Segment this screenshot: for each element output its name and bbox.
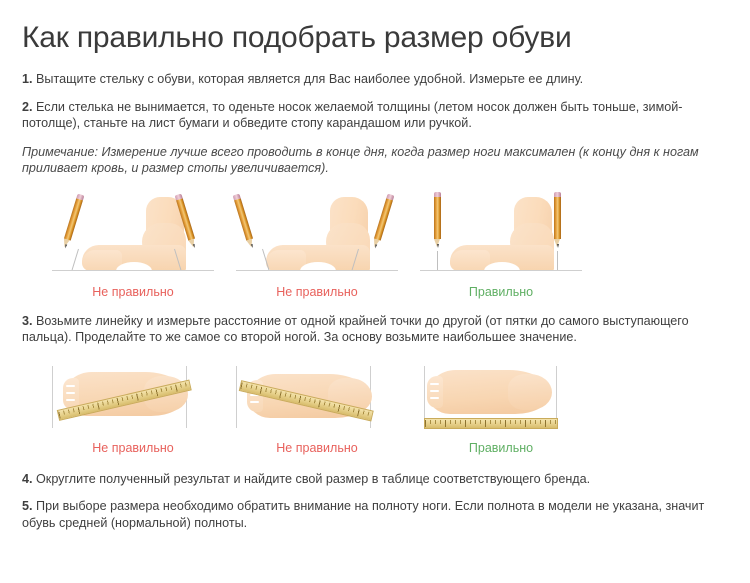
pencil-tracing-illustrations: Не правильно Не правильно (22, 192, 728, 300)
guide-line (72, 248, 79, 269)
ground-line (52, 270, 214, 271)
step-3-text: Возьмите линейку и измерьте расстояние о… (22, 314, 689, 345)
caption-status: Не правильно (230, 441, 404, 456)
foot-top-icon (428, 370, 550, 414)
illustration-foot-top-ruler-tilted-down (230, 364, 404, 432)
caption-status: Не правильно (230, 285, 404, 300)
figure-pencil-outward: Не правильно (230, 192, 404, 300)
step-5-number: 5. (22, 499, 33, 513)
guide-line (557, 251, 558, 271)
figure-pencil-inward: Не правильно (46, 192, 220, 300)
figure-ruler-tilted-up: Не правильно (46, 364, 220, 456)
step-2-number: 2. (22, 100, 33, 114)
illustration-foot-side-pencils-inward (46, 192, 220, 272)
ruler-measuring-illustrations: Не правильно Не правильно (22, 364, 728, 456)
guide-line (236, 366, 237, 428)
foot-side-icon (450, 201, 554, 271)
illustration-foot-top-ruler-horizontal (414, 364, 588, 432)
figure-pencil-vertical: Правильно (414, 192, 588, 300)
ground-line (420, 270, 582, 271)
foot-side-icon (82, 201, 186, 271)
caption-status: Не правильно (46, 441, 220, 456)
step-3: 3. Возьмите линейку и измерьте расстояни… (22, 313, 728, 346)
note: Примечание: Измерение лучше всего провод… (22, 144, 728, 177)
pencil-icon (554, 192, 561, 252)
caption-status: Правильно (414, 285, 588, 300)
caption-status: Не правильно (46, 285, 220, 300)
pencil-icon (434, 192, 441, 252)
ruler-icon (424, 418, 558, 429)
step-1-text: Вытащите стельку с обуви, которая являет… (36, 72, 583, 86)
step-3-number: 3. (22, 314, 33, 328)
illustration-foot-side-pencils-vertical (414, 192, 588, 272)
figure-ruler-horizontal: Правильно (414, 364, 588, 456)
step-5-text: При выборе размера необходимо обратить в… (22, 499, 704, 530)
page-title: Как правильно подобрать размер обуви (22, 19, 728, 57)
step-1: 1. Вытащите стельку с обуви, которая явл… (22, 71, 728, 88)
illustration-foot-side-pencils-outward (230, 192, 404, 272)
article-page: Как правильно подобрать размер обуви 1. … (0, 19, 750, 583)
step-5: 5. При выборе размера необходимо обратит… (22, 498, 728, 531)
step-4-number: 4. (22, 472, 33, 486)
step-2-text: Если стелька не вынимается, то оденьте н… (22, 100, 682, 131)
pencil-icon (60, 193, 84, 252)
step-4-text: Округлите полученный результат и найдите… (36, 472, 590, 486)
step-4: 4. Округлите полученный результат и найд… (22, 471, 728, 488)
ground-line (236, 270, 398, 271)
caption-status: Правильно (414, 441, 588, 456)
step-2: 2. Если стелька не вынимается, то оденьт… (22, 99, 728, 132)
figure-ruler-tilted-down: Не правильно (230, 364, 404, 456)
guide-line (52, 366, 53, 428)
illustration-foot-top-ruler-tilted-up (46, 364, 220, 432)
step-1-number: 1. (22, 72, 33, 86)
pencil-icon (370, 193, 394, 252)
pencil-icon (233, 193, 257, 252)
guide-line (437, 251, 438, 271)
